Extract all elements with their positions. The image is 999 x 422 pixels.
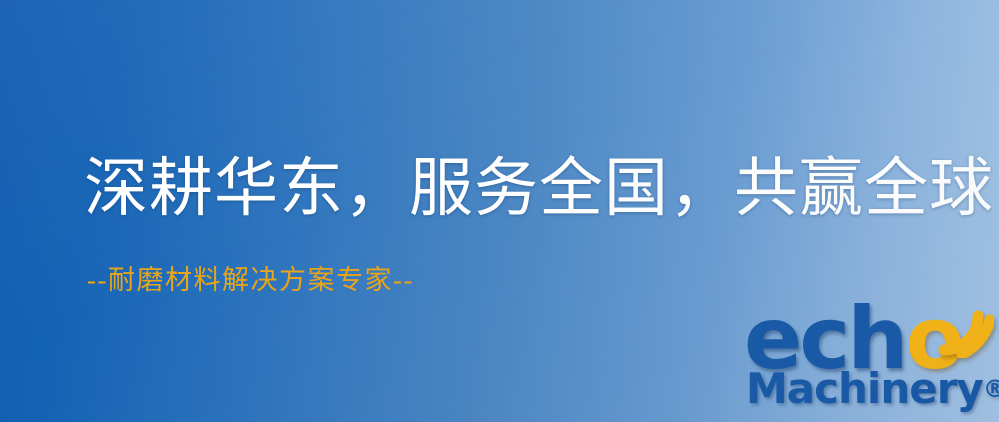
hero-banner: 深耕华东，服务全国，共赢全球 --耐磨材料解决方案专家-- echo Machi… bbox=[0, 0, 999, 422]
signal-arcs-icon bbox=[922, 294, 994, 358]
company-logo[interactable]: echo Machinery® bbox=[744, 296, 999, 422]
registered-trademark-icon: ® bbox=[983, 375, 999, 403]
logo-tagline-text: Machinery bbox=[746, 364, 983, 413]
banner-headline: 深耕华东，服务全国，共赢全球 bbox=[84, 152, 994, 226]
banner-subtitle: --耐磨材料解决方案专家-- bbox=[87, 264, 414, 296]
logo-tagline: Machinery® bbox=[746, 366, 999, 412]
